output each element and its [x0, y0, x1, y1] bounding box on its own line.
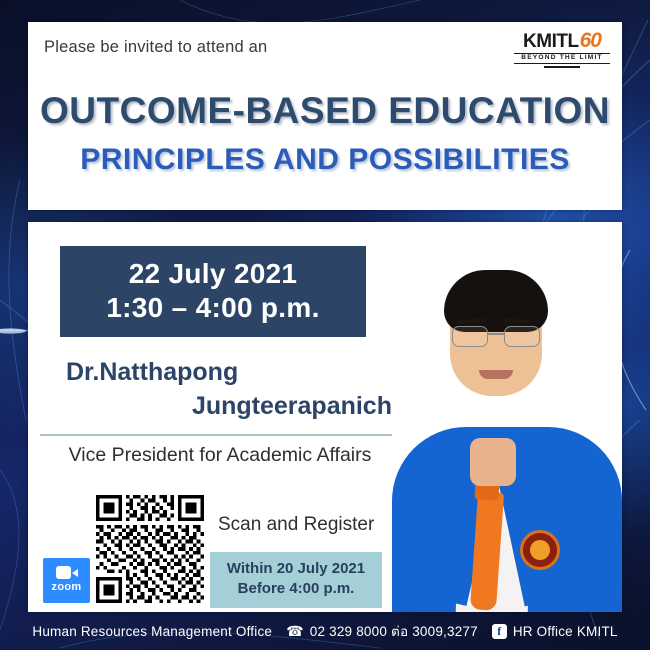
body-card: 22 July 2021 1:30 – 4:00 p.m. Dr.Natthap…	[28, 222, 622, 612]
divider	[40, 434, 392, 436]
footer-facebook[interactable]: f HR Office KMITL	[492, 624, 618, 639]
event-time: 1:30 – 4:00 p.m.	[60, 292, 366, 324]
event-date: 22 July 2021	[60, 258, 366, 290]
glasses-lens-left	[452, 326, 488, 347]
title-block: OUTCOME-BASED EDUCATION PRINCIPLES AND P…	[28, 90, 622, 177]
deadline-line1: Within 20 July 2021	[214, 559, 378, 579]
speaker-mouth	[479, 370, 513, 379]
glasses-lens-right	[504, 326, 540, 347]
glasses-bridge	[488, 333, 504, 335]
footer-facebook-label[interactable]: HR Office KMITL	[513, 624, 618, 639]
zoom-logo: zoom	[43, 558, 90, 603]
speaker-name-line2: Jungteerapanich	[56, 389, 396, 423]
scan-and-register-label: Scan and Register	[218, 514, 374, 536]
phone-icon: ☎	[286, 623, 304, 640]
page-subtitle: PRINCIPLES AND POSSIBILITIES	[28, 143, 622, 177]
speaker-name: Dr.Natthapong Jungteerapanich	[56, 355, 396, 423]
speaker-glasses	[450, 326, 542, 346]
speaker-role: Vice President for Academic Affairs	[40, 444, 400, 467]
page-title: OUTCOME-BASED EDUCATION	[28, 90, 622, 132]
video-camera-icon	[56, 566, 78, 579]
university-emblem-badge	[520, 530, 560, 570]
zoom-label: zoom	[43, 581, 90, 593]
deadline-line2: Before 4:00 p.m.	[214, 579, 378, 599]
facebook-icon[interactable]: f	[492, 624, 507, 639]
footer-phone-label: 02 329 8000 ต่อ 3009,3277	[310, 620, 478, 642]
invite-line: Please be invited to attend an	[44, 38, 267, 57]
speaker-photo	[374, 222, 622, 612]
registration-deadline-box: Within 20 July 2021 Before 4:00 p.m.	[210, 552, 382, 608]
speaker-name-line1: Dr.Natthapong	[56, 355, 396, 389]
kmitl-logo-top: KMITL 60	[514, 30, 610, 51]
kmitl-tagline: BEYOND THE LIMIT	[514, 53, 610, 64]
footer-office-label: Human Resources Management Office	[32, 624, 272, 639]
footer-phone: ☎ 02 329 8000 ต่อ 3009,3277	[286, 620, 478, 642]
footer-office: Human Resources Management Office	[32, 624, 272, 639]
kmitl-anniversary-60: 60	[580, 30, 601, 51]
speaker-neck	[470, 438, 516, 486]
event-datetime-box: 22 July 2021 1:30 – 4:00 p.m.	[60, 246, 366, 337]
event-poster: Please be invited to attend an KMITL 60 …	[0, 0, 650, 650]
footer-contact-bar: Human Resources Management Office ☎ 02 3…	[0, 612, 650, 650]
kmitl-wordmark: KMITL	[523, 32, 579, 51]
kmitl-logo-underbar	[544, 66, 580, 68]
camera-body	[56, 566, 71, 579]
kmitl-logo: KMITL 60 BEYOND THE LIMIT	[514, 30, 610, 68]
camera-lens	[72, 569, 78, 577]
header-card: Please be invited to attend an KMITL 60 …	[28, 22, 622, 210]
qr-code[interactable]	[96, 494, 204, 604]
